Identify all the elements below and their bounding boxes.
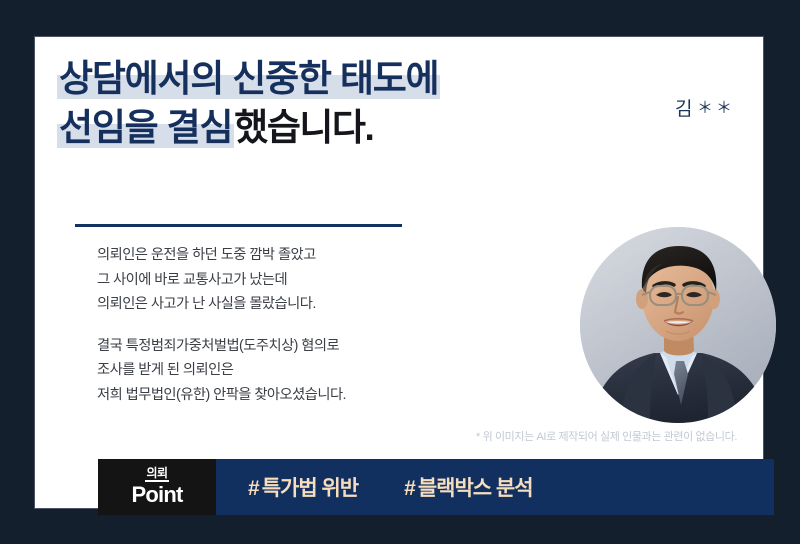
hashtag-item-2-label: 블랙박스 분석 [418, 477, 533, 500]
ai-image-disclaimer: * 위 이미지는 AI로 제작되어 실제 인물과는 관련이 없습니다. [476, 428, 737, 444]
client-name: 김＊＊ [675, 94, 735, 121]
brand-logo[interactable]: 의뢰 Point [98, 459, 216, 515]
hashtag-list: #특가법 위반 #블랙박스 분석 [216, 459, 774, 515]
client-surname: 김 [675, 99, 693, 120]
title-divider [75, 224, 402, 227]
case-paragraph-1-line-1: 의뢰인은 운전을 하던 도중 깜박 졸았고 [97, 243, 427, 268]
case-paragraph-1-line-3: 의뢰인은 사고가 난 사실을 몰랐습니다. [97, 292, 427, 317]
bottom-bar: 의뢰 Point #특가법 위반 #블랙박스 분석 [98, 459, 774, 515]
hashtag-item-2[interactable]: #블랙박스 분석 [404, 472, 532, 502]
headline-line-1-highlight: 상담에서의 신중한 태도에 [57, 58, 440, 99]
case-paragraph-1-line-2: 그 사이에 바로 교통사고가 났는데 [97, 268, 427, 293]
hash-symbol-icon: # [248, 477, 259, 500]
case-paragraph-2-line-1: 결국 특정범죄가중처벌법(도주치상) 혐의로 [97, 334, 427, 359]
brand-logo-top-text: 의뢰 [145, 467, 168, 483]
client-masked-name: ＊＊ [697, 100, 735, 117]
headline-line-2-plain: 했습니다. [234, 107, 373, 148]
case-paragraph-1: 의뢰인은 운전을 하던 도중 깜박 졸았고 그 사이에 바로 교통사고가 났는데… [97, 243, 427, 317]
brand-logo-bottom-text: Point [132, 483, 183, 507]
headline-line-2: 선임을 결심했습니다. [57, 104, 527, 151]
headline-line-1: 상담에서의 신중한 태도에 [57, 55, 527, 102]
poster-stage: 김＊＊ 상담에서의 신중한 태도에 선임을 결심했습니다. 의뢰인은 운전을 하… [0, 0, 800, 544]
page-title: 상담에서의 신중한 태도에 선임을 결심했습니다. [57, 55, 527, 154]
case-summary: 의뢰인은 운전을 하던 도중 깜박 졸았고 그 사이에 바로 교통사고가 났는데… [97, 243, 427, 407]
case-paragraph-2-line-2: 조사를 받게 된 의뢰인은 [97, 358, 427, 383]
content-card: 김＊＊ 상담에서의 신중한 태도에 선임을 결심했습니다. 의뢰인은 운전을 하… [35, 37, 763, 508]
case-paragraph-2-line-3: 저희 법무법인(유한) 안팍을 찾아오셨습니다. [97, 383, 427, 408]
lawyer-portrait-photo [580, 227, 776, 423]
hash-symbol-icon: # [404, 477, 415, 500]
case-paragraph-2: 결국 특정범죄가중처벌법(도주치상) 혐의로 조사를 받게 된 의뢰인은 저희 … [97, 334, 427, 408]
hashtag-item-1[interactable]: #특가법 위반 [248, 472, 358, 502]
hashtag-item-1-label: 특가법 위반 [262, 477, 358, 500]
headline-line-2-highlight: 선임을 결심 [57, 107, 234, 148]
